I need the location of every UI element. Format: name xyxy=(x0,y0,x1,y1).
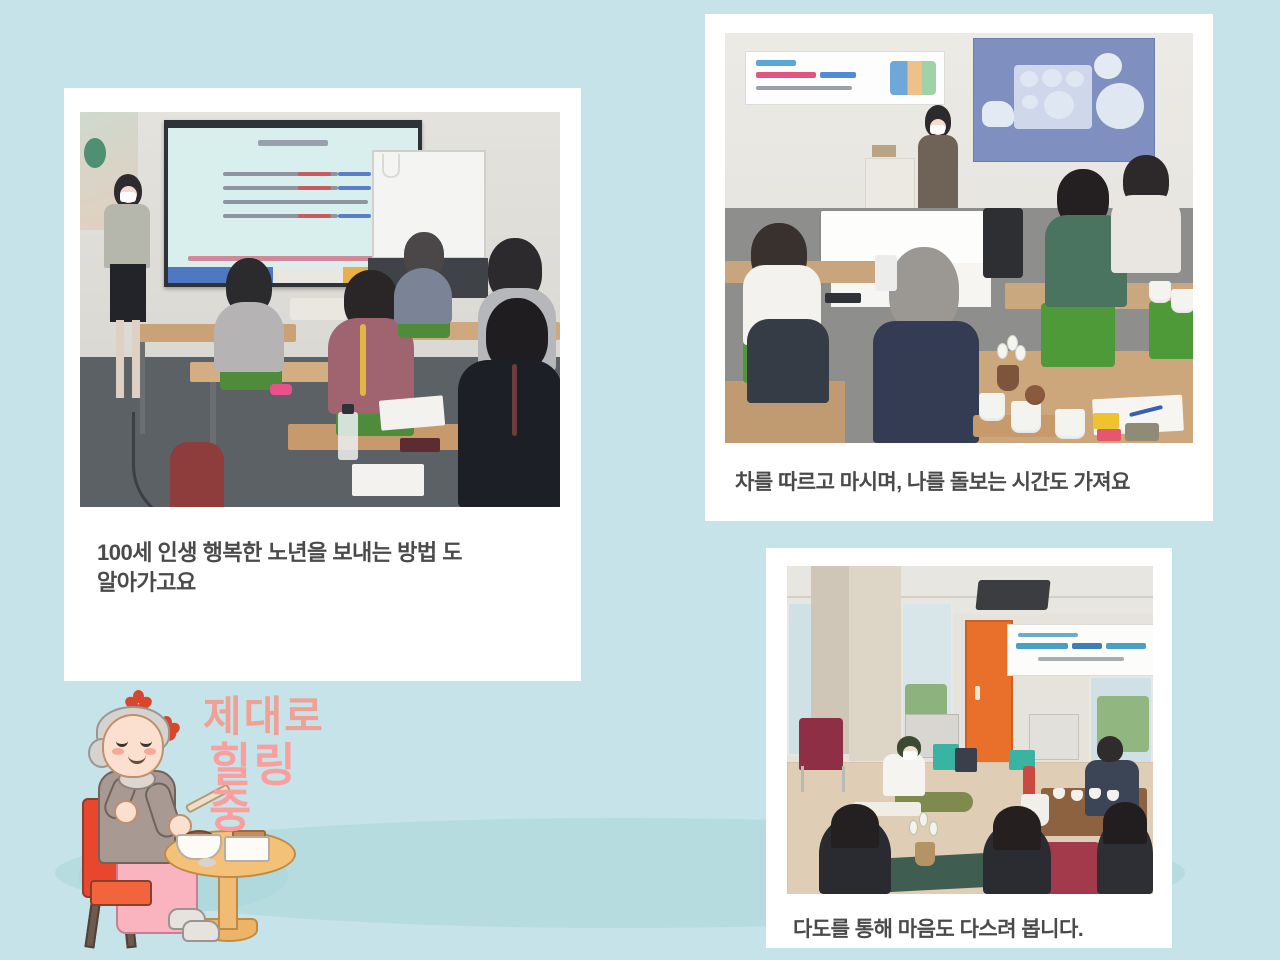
banner-line xyxy=(1038,657,1124,661)
attendee-blouse xyxy=(1111,195,1181,273)
green-chair xyxy=(1041,303,1115,367)
ceiling-projector xyxy=(975,580,1050,610)
event-banner xyxy=(745,51,945,105)
cup-image xyxy=(1020,71,1038,87)
event-banner xyxy=(1007,624,1153,676)
tea-cup xyxy=(1071,790,1083,801)
tea-cup xyxy=(1055,409,1085,439)
banner-line xyxy=(756,60,796,66)
photo-lecture-room xyxy=(80,112,560,507)
face-mask-icon xyxy=(903,751,917,760)
lanyard xyxy=(360,324,366,396)
card-caption: 다도를 통해 마음도 다스려 봅니다. xyxy=(793,916,1172,944)
flower-petal xyxy=(919,812,928,827)
woman-hand xyxy=(114,800,138,824)
flower-arrangement xyxy=(907,812,943,846)
card-caption: 차를 따르고 마시며, 나를 돌보는 시간도 가져요 xyxy=(735,469,1213,497)
banner-line xyxy=(756,72,816,78)
handwriting-line-2: 힐링중 xyxy=(209,742,333,834)
column xyxy=(849,566,901,761)
tea-bowl xyxy=(1025,385,1045,405)
paper-sheet xyxy=(379,395,445,430)
water-bottle xyxy=(338,412,358,460)
teapot-image xyxy=(982,101,1014,127)
black-chair xyxy=(983,208,1023,278)
presenter-skirt xyxy=(110,264,146,322)
tea-cup xyxy=(979,393,1005,421)
phone xyxy=(825,293,861,303)
bowl xyxy=(176,834,222,860)
audience-head xyxy=(1103,802,1147,844)
banner-line xyxy=(1016,643,1068,649)
tea-cup xyxy=(1053,788,1065,799)
paper-sheet xyxy=(352,464,424,496)
projection-screen xyxy=(973,38,1155,162)
flower-petal xyxy=(1015,345,1026,361)
presenter-leg xyxy=(116,320,124,398)
slide-title-bar xyxy=(258,140,328,146)
utility-cart xyxy=(1029,714,1079,760)
handwriting-text-block: 제대로 힐링중 xyxy=(203,696,333,834)
cup-image xyxy=(1022,95,1038,109)
slide-line-blue xyxy=(338,172,371,176)
banner-line xyxy=(1072,643,1102,649)
presenter-leg xyxy=(132,320,140,398)
flower-arrangement xyxy=(993,333,1025,369)
small-tray-image xyxy=(1076,91,1092,115)
attendee-body xyxy=(214,302,284,372)
slide-line-red xyxy=(298,186,331,190)
yellow-marker xyxy=(1093,413,1119,429)
projector xyxy=(290,298,346,320)
flower-petal xyxy=(929,821,938,836)
banner-line xyxy=(1106,643,1146,649)
red-chair-seat xyxy=(90,880,152,906)
audience-head xyxy=(831,804,879,848)
handwriting-line-1: 제대로 xyxy=(203,696,333,738)
banner-line xyxy=(756,86,852,90)
photo-card-tea-ceremony[interactable]: 다도를 통해 마음도 다스려 봅니다. xyxy=(766,548,1172,948)
tea-cup xyxy=(1149,281,1171,303)
photo-card-tea-class[interactable]: 차를 따르고 마시며, 나를 돌보는 시간도 가져요 xyxy=(705,14,1213,521)
tumbler xyxy=(875,255,897,291)
attendee-body xyxy=(394,268,452,324)
woman-cheek xyxy=(112,748,124,755)
host-head xyxy=(1097,736,1123,762)
stone-object xyxy=(1125,423,1159,441)
demonstrator-body xyxy=(883,754,925,796)
tea-cup xyxy=(1011,401,1041,433)
audience-head xyxy=(993,806,1041,850)
slide-footer-text xyxy=(188,256,398,261)
pot-image xyxy=(1094,53,1122,79)
slide-line-red xyxy=(298,172,331,176)
face-mask-icon xyxy=(930,125,945,134)
banner-line xyxy=(820,72,856,78)
dark-bag xyxy=(955,748,977,772)
plate xyxy=(224,836,270,862)
table-saucer xyxy=(198,858,216,867)
slide-line-red xyxy=(298,214,331,218)
slide-line-blue xyxy=(338,214,371,218)
bowl-image xyxy=(1044,91,1074,119)
red-backpack xyxy=(170,442,224,507)
poster-canvas: 100세 인생 행복한 노년을 보내는 방법 도 알아가고요 xyxy=(0,0,1280,960)
attendee-vest xyxy=(873,321,979,443)
flower-petal xyxy=(909,820,918,835)
lanyard xyxy=(512,364,517,436)
red-marker xyxy=(1097,429,1121,441)
slide-line xyxy=(223,200,368,204)
notebook xyxy=(400,438,440,452)
attendee-body-foreground xyxy=(458,360,560,507)
pink-pouch xyxy=(270,384,292,395)
banner-illustration xyxy=(890,61,936,95)
tea-cup xyxy=(1089,788,1101,799)
red-chair xyxy=(799,718,843,770)
woman-face xyxy=(102,714,164,778)
tea-cup xyxy=(1107,790,1119,801)
tea-cup xyxy=(1171,289,1193,313)
photo-tea-ceremony-hall xyxy=(787,566,1153,894)
presenter-jacket xyxy=(104,204,150,268)
large-plate-image xyxy=(1096,83,1144,129)
card-caption: 100세 인생 행복한 노년을 보내는 방법 도 알아가고요 xyxy=(97,538,581,597)
photo-tea-class xyxy=(725,33,1193,443)
cup-image xyxy=(1066,71,1084,87)
banner-line xyxy=(1018,633,1078,637)
face-mask-icon xyxy=(120,192,136,202)
woman-shoe xyxy=(182,920,220,942)
photo-card-lecture[interactable]: 100세 인생 행복한 노년을 보내는 방법 도 알아가고요 xyxy=(64,88,581,681)
cup-image xyxy=(1042,69,1062,87)
attendee-skirt xyxy=(747,319,829,403)
slide-line-blue xyxy=(338,186,371,190)
